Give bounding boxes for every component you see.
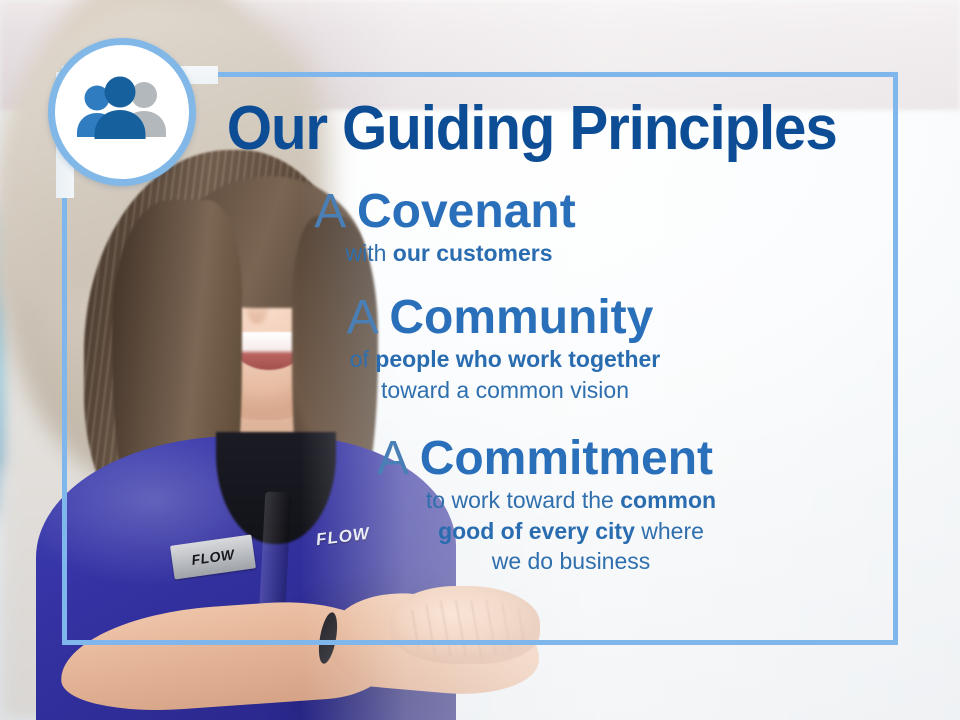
principle-article: A — [314, 185, 343, 238]
subtitle-line-3: we do business — [244, 546, 898, 577]
subtitle-plain: of — [350, 346, 376, 372]
poster-canvas: FLOW FLOW Our Guiding Principles — [0, 0, 960, 720]
poster-content: Our Guiding Principles A Covenant with o… — [62, 72, 898, 645]
principle-article: A — [347, 291, 376, 344]
subtitle-bold-1: common — [620, 487, 716, 513]
principles-list: A Covenant with our customers A Communit… — [62, 184, 898, 581]
principle-subtitle: with our customers — [62, 238, 828, 269]
subtitle-bold: people who work together — [375, 346, 660, 372]
principle-commitment: A Commitment to work toward the common g… — [62, 409, 898, 577]
principle-covenant: A Covenant with our customers — [62, 184, 898, 268]
subtitle-bold-2: good of every city — [438, 518, 635, 544]
principle-keyword: Covenant — [357, 185, 576, 238]
subtitle-line-1: to work toward the common — [244, 485, 898, 516]
subtitle-line-2: toward a common vision — [112, 375, 898, 406]
principle-article: A — [377, 432, 406, 485]
subtitle-plain: with — [345, 240, 392, 266]
subtitle-plain-2: where — [635, 518, 704, 544]
principle-keyword: Commitment — [420, 432, 713, 485]
principle-heading: A Commitment — [192, 433, 898, 485]
principle-subtitle: of people who work together toward a com… — [102, 344, 898, 405]
principle-community: A Community of people who work together … — [62, 272, 898, 405]
principle-heading: A Community — [102, 292, 898, 344]
principle-heading: A Covenant — [62, 186, 828, 238]
page-title: Our Guiding Principles — [87, 98, 873, 160]
subtitle-plain: to work toward the — [426, 487, 620, 513]
subtitle-line-2: good of every city where — [244, 516, 898, 547]
subtitle-bold: our customers — [393, 240, 553, 266]
principle-subtitle: to work toward the common good of every … — [192, 485, 898, 577]
principle-keyword: Community — [389, 291, 653, 344]
